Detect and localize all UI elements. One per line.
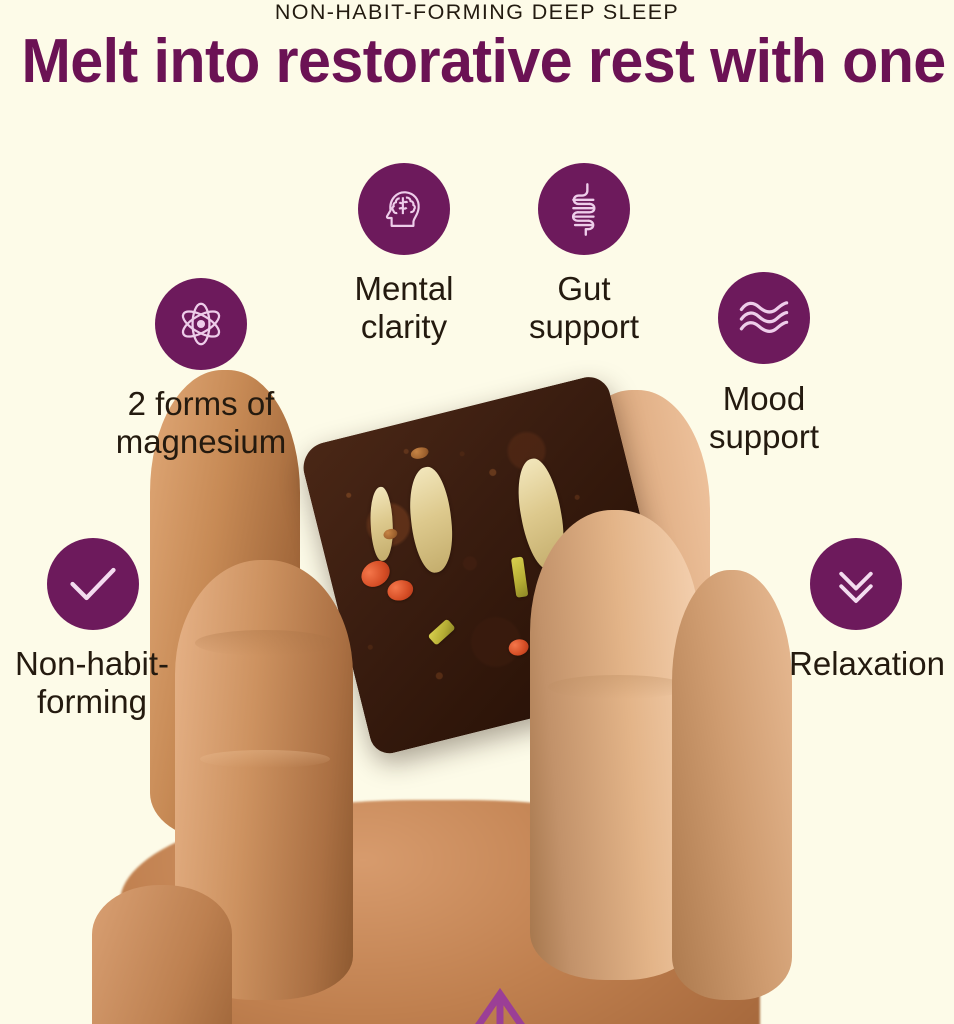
intestine-icon bbox=[538, 163, 630, 255]
finger-far-right bbox=[672, 570, 792, 1000]
badge-label: 2 forms of magnesium bbox=[81, 385, 321, 461]
double-chevron-down-icon bbox=[810, 538, 902, 630]
badge-label: Mental clarity bbox=[304, 270, 504, 346]
badge-label: Relaxation bbox=[752, 645, 954, 683]
finger-bottom-left bbox=[92, 885, 232, 1024]
thumb-knuckle-line bbox=[195, 630, 335, 656]
page-headline: Melt into restorative rest with one Bite bbox=[21, 26, 932, 98]
badge-label: Non-habit- forming bbox=[0, 645, 212, 721]
head-brain-icon bbox=[358, 163, 450, 255]
badge-label: Mood support bbox=[664, 380, 864, 456]
eyebrow-text: NON-HABIT-FORMING DEEP SLEEP bbox=[0, 0, 954, 24]
index-knuckle-line bbox=[548, 675, 688, 699]
product-marketing-image: NON-HABIT-FORMING DEEP SLEEP Melt into r… bbox=[0, 0, 954, 1024]
badge-label: Gut support bbox=[484, 270, 684, 346]
thumb-crease bbox=[200, 750, 330, 768]
up-arrow-icon bbox=[470, 982, 530, 1024]
checkmark-icon bbox=[47, 538, 139, 630]
waves-icon bbox=[718, 272, 810, 364]
atom-icon bbox=[155, 278, 247, 370]
